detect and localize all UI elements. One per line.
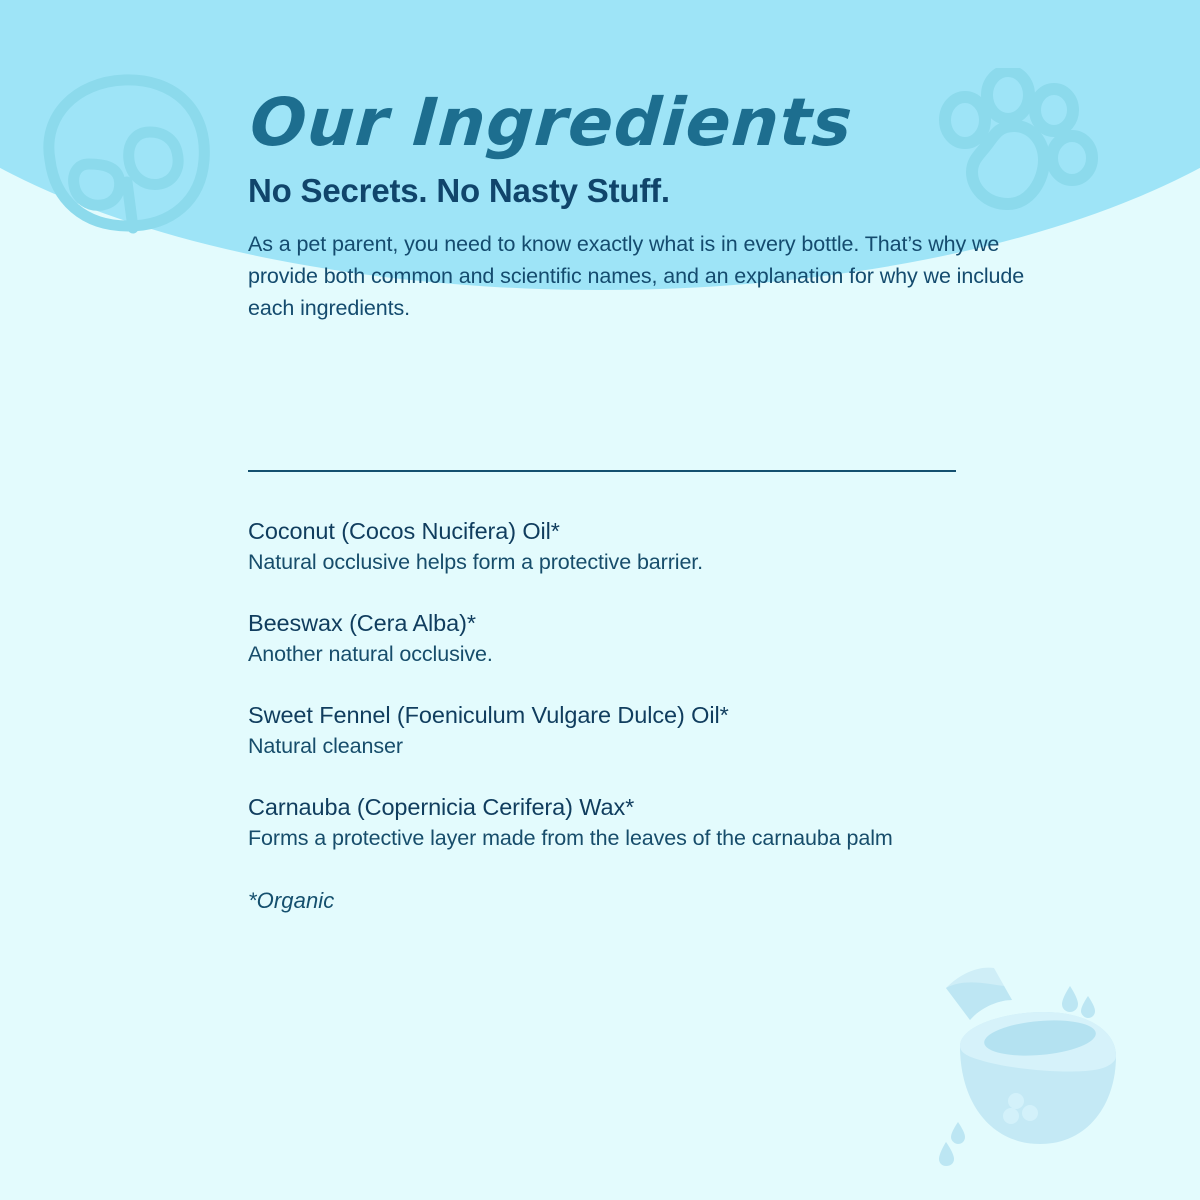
- ingredient-description: Forms a protective layer made from the l…: [248, 822, 1048, 853]
- section-divider: [248, 470, 956, 472]
- intro-paragraph: As a pet parent, you need to know exactl…: [248, 211, 1038, 324]
- ingredient-name: Beeswax (Cera Alba)*: [248, 608, 1048, 638]
- ingredient-name: Sweet Fennel (Foeniculum Vulgare Dulce) …: [248, 700, 1048, 730]
- ingredient-item: Beeswax (Cera Alba)* Another natural occ…: [248, 608, 1048, 669]
- page-title: Our Ingredients: [248, 0, 1099, 157]
- ingredient-name: Carnauba (Copernicia Cerifera) Wax*: [248, 792, 1048, 822]
- header-content: Our Ingredients No Secrets. No Nasty Stu…: [248, 0, 1088, 324]
- ingredients-section: Coconut (Cocos Nucifera) Oil* Natural oc…: [248, 470, 1048, 914]
- ingredients-infographic: Our Ingredients No Secrets. No Nasty Stu…: [0, 0, 1200, 1200]
- ingredient-item: Carnauba (Copernicia Cerifera) Wax* Form…: [248, 792, 1048, 853]
- ingredient-description: Natural cleanser: [248, 730, 1048, 761]
- organic-footnote: *Organic: [248, 853, 1048, 914]
- ingredient-item: Sweet Fennel (Foeniculum Vulgare Dulce) …: [248, 700, 1048, 761]
- cracked-coconut-illustration: [918, 938, 1148, 1168]
- ingredient-description: Another natural occlusive.: [248, 638, 1048, 669]
- ingredient-item: Coconut (Cocos Nucifera) Oil* Natural oc…: [248, 516, 1048, 577]
- page-subtitle: No Secrets. No Nasty Stuff.: [248, 157, 1088, 211]
- ingredient-description: Natural occlusive helps form a protectiv…: [248, 546, 1048, 577]
- ingredient-name: Coconut (Cocos Nucifera) Oil*: [248, 516, 1048, 546]
